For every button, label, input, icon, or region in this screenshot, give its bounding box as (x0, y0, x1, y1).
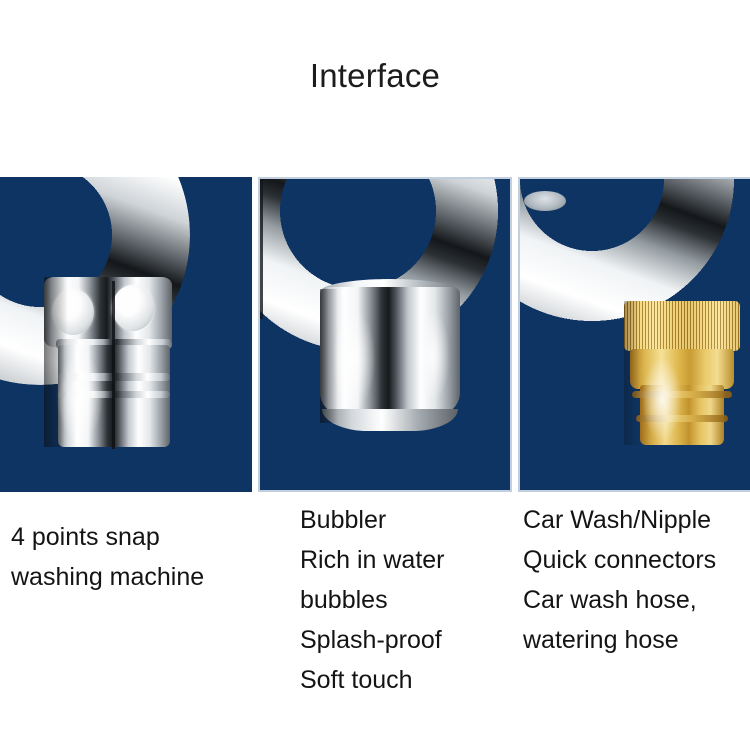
snap-bump-right (112, 285, 154, 331)
product-photo-bubbler (258, 177, 513, 492)
bubbler-sleeve (320, 287, 460, 423)
caption-line: bubbles (300, 580, 445, 620)
sleeve-seam (260, 179, 263, 319)
product-photo-4-point-snap (0, 177, 252, 492)
caption-line: washing machine (11, 557, 204, 597)
product-photo-strip (0, 177, 750, 492)
faucet-4-point-snap-illustration (0, 177, 252, 492)
faucet-brass-nipple-illustration (520, 179, 750, 490)
faucet-bubbler-illustration (260, 179, 511, 490)
vertical-seam (112, 281, 115, 449)
caption-line: Quick connectors (523, 540, 716, 580)
snap-bump-left (52, 289, 94, 335)
caption-line: watering hose (523, 620, 716, 660)
caption-line: Soft touch (300, 660, 445, 700)
brass-knurled-ring (624, 301, 740, 351)
bubbler-sleeve-lip (322, 409, 458, 431)
caption-4-point-snap: 4 points snap washing machine (11, 517, 204, 597)
product-interface-image: Interface (0, 0, 750, 750)
caption-line: Car wash hose, (523, 580, 716, 620)
brass-groove-1 (632, 391, 732, 398)
brass-body (630, 349, 734, 389)
caption-row: 4 points snap washing machine Bubbler Ri… (0, 492, 750, 750)
caption-line: 4 points snap (11, 517, 204, 557)
page-title: Interface (0, 56, 750, 96)
caption-line: Rich in water (300, 540, 445, 580)
caption-line: Splash-proof (300, 620, 445, 660)
product-photo-brass-nipple (518, 177, 750, 492)
caption-line: Car Wash/Nipple (523, 500, 716, 540)
caption-bubbler: Bubbler Rich in water bubbles Splash-pro… (300, 500, 445, 700)
brass-groove-2 (636, 415, 728, 422)
caption-car-wash-nipple: Car Wash/Nipple Quick connectors Car was… (523, 500, 716, 660)
caption-line: Bubbler (300, 500, 445, 540)
